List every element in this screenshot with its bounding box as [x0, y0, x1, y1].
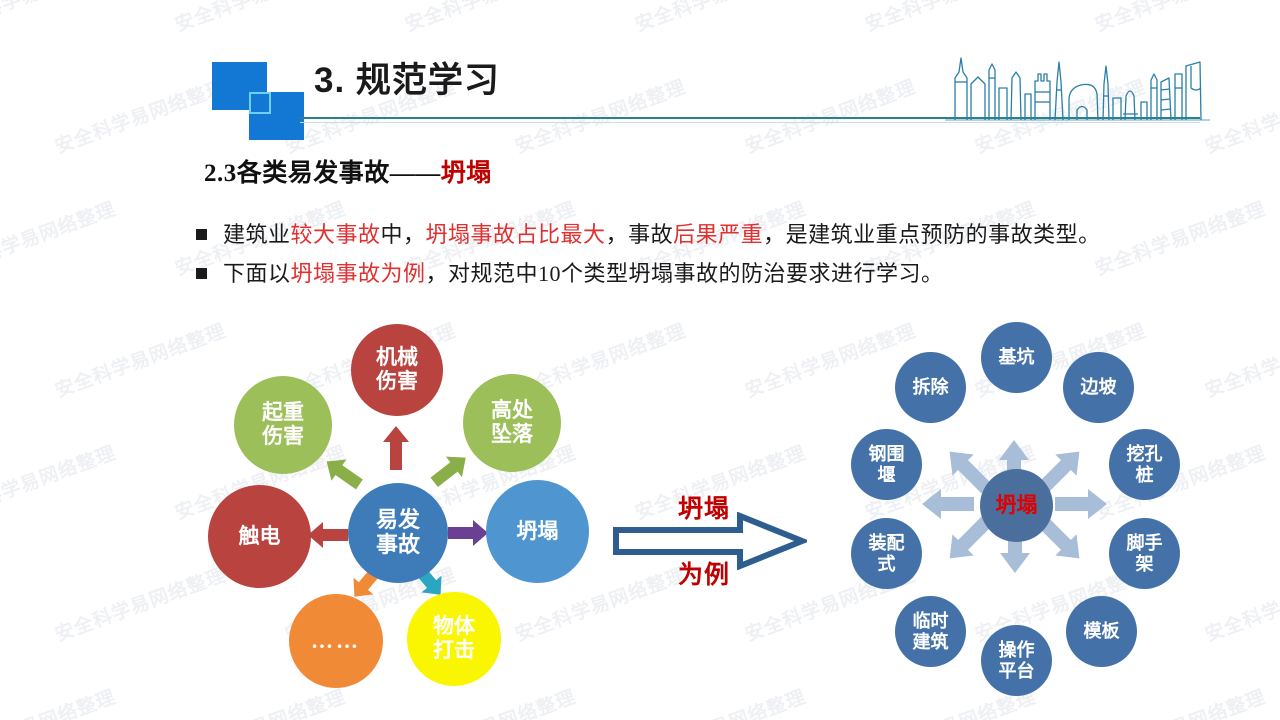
- node-demolition[interactable]: 拆除: [895, 352, 966, 423]
- node-label: 高处 坠落: [491, 399, 533, 446]
- watermark-text: 安全科学易网络整理: [0, 194, 119, 281]
- bullet-segment: 坍塌事故为例: [291, 261, 426, 286]
- node-slope[interactable]: 边坡: [1063, 352, 1134, 423]
- overlapping-squares-logo-icon: [212, 62, 304, 140]
- bullet-segment: ，事故: [606, 222, 674, 247]
- node-center-frequent-accidents[interactable]: 易发 事故: [348, 483, 448, 583]
- subtitle-prefix: 2.3各类易发事故——: [204, 160, 441, 187]
- bullet-segment: 后果严重: [673, 222, 763, 247]
- bullet-segment: 较大事故: [291, 222, 381, 247]
- node-label: 起重 伤害: [262, 401, 304, 448]
- bullet-marker-icon: [196, 229, 207, 240]
- node-label: 基坑: [999, 347, 1035, 367]
- node-work-platform[interactable]: 操作 平台: [981, 625, 1052, 696]
- page-title: 3. 规范学习: [314, 63, 500, 98]
- node-object-strike[interactable]: 物体 打击: [407, 592, 501, 686]
- slide-header: 3. 规范学习: [0, 0, 1280, 150]
- node-label: 临时 建筑: [913, 611, 949, 651]
- logo-square-outline: [249, 92, 271, 114]
- header-accent-bar: [295, 110, 299, 136]
- bullet-segment: 下面以: [223, 261, 291, 286]
- node-foundation-pit[interactable]: 基坑: [981, 322, 1052, 393]
- node-mechanical-injury[interactable]: 机械 伤害: [351, 324, 443, 416]
- node-label: 装配 式: [869, 533, 905, 573]
- section-subtitle: 2.3各类易发事故——坍塌: [204, 153, 492, 189]
- node-label: 坍塌: [517, 520, 559, 544]
- node-label: 坍塌: [996, 494, 1038, 518]
- accident-types-diagram: 机械 伤害 起重 伤害 高处 坠落 触电 坍塌 …… 物体 打击 易发 事故: [200, 318, 600, 703]
- bullet-item: 下面以坍塌事故为例，对规范中10个类型坍塌事故的防治要求进行学习。: [196, 257, 1266, 290]
- node-collapse[interactable]: 坍塌: [486, 480, 589, 583]
- bullet-segment: ，是建筑业重点预防的事故类型。: [763, 222, 1101, 247]
- node-label: 触电: [239, 525, 281, 549]
- node-electric-shock[interactable]: 触电: [208, 485, 311, 588]
- bullet-item: 建筑业较大事故中，坍塌事故占比最大，事故后果严重，是建筑业重点预防的事故类型。: [196, 218, 1266, 251]
- node-temporary-building[interactable]: 临时 建筑: [895, 596, 966, 667]
- bullet-text: 下面以坍塌事故为例，对规范中10个类型坍塌事故的防治要求进行学习。: [223, 257, 944, 290]
- bullet-marker-icon: [196, 268, 207, 279]
- node-center-collapse[interactable]: 坍塌: [980, 469, 1053, 542]
- bullet-segment: 建筑业: [223, 222, 291, 247]
- bullet-segment: 坍塌事故占比最大: [426, 222, 606, 247]
- watermark-text: 安全科学易网络整理: [631, 682, 809, 720]
- bullet-list: 建筑业较大事故中，坍塌事故占比最大，事故后果严重，是建筑业重点预防的事故类型。下…: [196, 218, 1266, 296]
- node-prefabricated[interactable]: 装配 式: [851, 518, 922, 589]
- watermark-text: 安全科学易网络整理: [0, 438, 119, 525]
- node-others[interactable]: ……: [289, 594, 383, 688]
- bullet-segment: 中，: [381, 222, 426, 247]
- transition-label-bottom: 为例: [678, 555, 730, 591]
- node-label: 易发 事故: [376, 508, 420, 557]
- node-label: 钢围 堰: [869, 444, 905, 484]
- node-bored-pile[interactable]: 挖孔 桩: [1109, 429, 1180, 500]
- subtitle-emphasis: 坍塌: [441, 160, 492, 187]
- watermark-text: 安全科学易网络整理: [0, 682, 119, 720]
- node-formwork[interactable]: 模板: [1066, 596, 1137, 667]
- node-label: 操作 平台: [999, 640, 1035, 680]
- bullet-text: 建筑业较大事故中，坍塌事故占比最大，事故后果严重，是建筑业重点预防的事故类型。: [223, 218, 1101, 251]
- bullet-segment: ，对规范中10个类型坍塌事故的防治要求进行学习。: [426, 261, 944, 286]
- node-label: 边坡: [1081, 377, 1117, 397]
- node-label: 机械 伤害: [376, 346, 418, 393]
- city-skyline-icon: [945, 48, 1210, 128]
- node-label: ……: [311, 629, 361, 654]
- slide: 安全科学易网络整理安全科学易网络整理安全科学易网络整理安全科学易网络整理安全科学…: [0, 0, 1280, 720]
- node-label: 拆除: [913, 377, 949, 397]
- node-label: 物体 打击: [433, 615, 475, 662]
- collapse-types-diagram: 基坑 边坡 挖孔 桩 脚手 架 模板 操作 平台 临时 建筑 装配 式: [818, 318, 1222, 703]
- node-steel-cofferdam[interactable]: 钢围 堰: [851, 429, 922, 500]
- node-label: 模板: [1084, 621, 1120, 641]
- node-fall-from-height[interactable]: 高处 坠落: [463, 374, 561, 472]
- transition-label-top: 坍塌: [678, 489, 730, 525]
- node-label: 脚手 架: [1127, 533, 1163, 573]
- node-label: 挖孔 桩: [1127, 444, 1163, 484]
- node-scaffolding[interactable]: 脚手 架: [1109, 518, 1180, 589]
- node-lifting-injury[interactable]: 起重 伤害: [234, 376, 332, 474]
